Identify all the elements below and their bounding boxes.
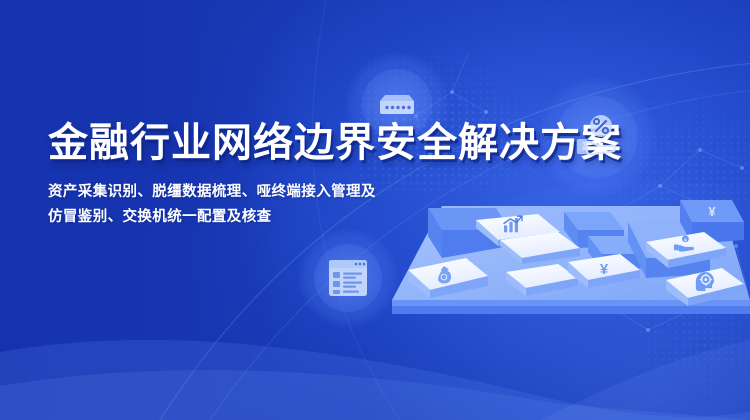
subtitle-line-2: 仿冒鉴别、交换机统一配置及核查 [48, 205, 518, 230]
hero-subtitle: 资产采集识别、脱缰数据梳理、哑终端接入管理及 仿冒鉴别、交换机统一配置及核查 [48, 180, 518, 230]
subtitle-line-1: 资产采集识别、脱缰数据梳理、哑终端接入管理及 [48, 180, 518, 205]
document-list-icon [326, 258, 370, 298]
banner-hero: ¥ [0, 0, 750, 420]
page-title: 金融行业网络边界安全解决方案 [48, 122, 518, 164]
percent-hand-icon [569, 109, 625, 165]
decor-circle-document [298, 228, 398, 328]
hero-text-block: 金融行业网络边界安全解决方案 资产采集识别、脱缰数据梳理、哑终端接入管理及 仿冒… [48, 122, 518, 230]
yen-icon: ¥ [600, 261, 609, 278]
yen-icon: ¥ [708, 204, 716, 219]
server-icon [374, 81, 420, 127]
